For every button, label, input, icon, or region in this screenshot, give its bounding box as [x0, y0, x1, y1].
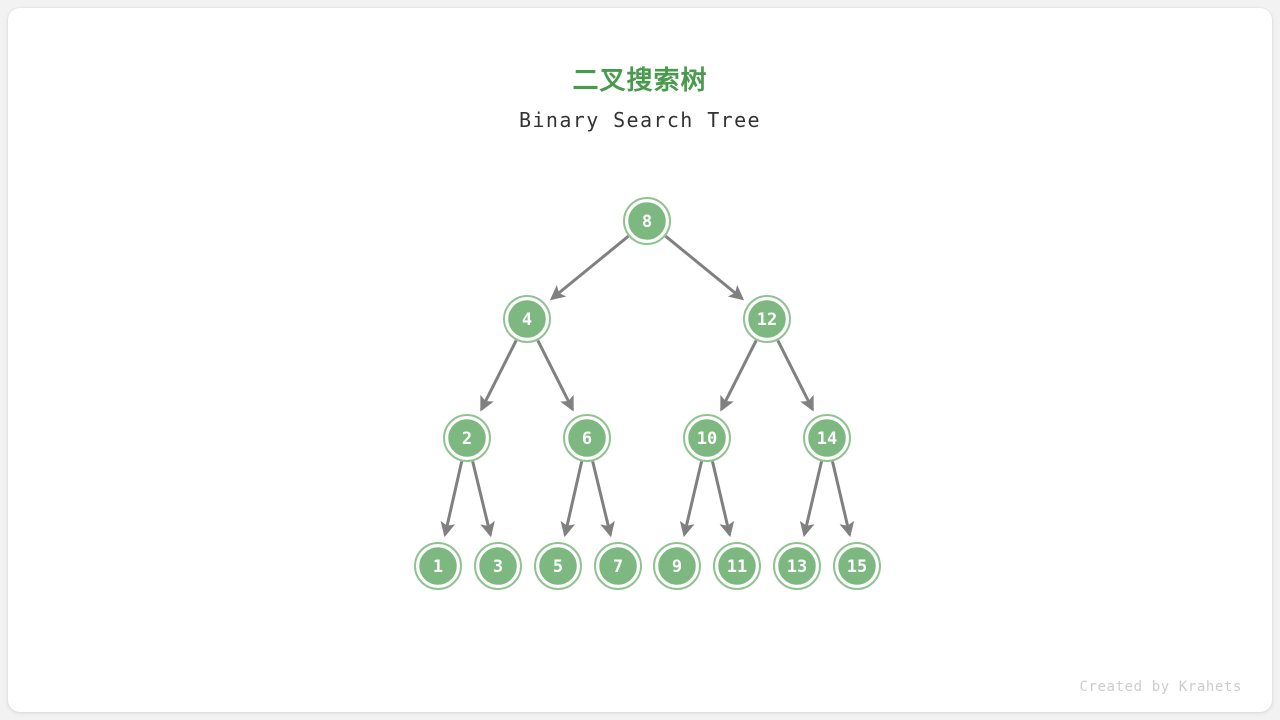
tree-edge-10-to-9 [684, 461, 701, 534]
tree-edge-14-to-13 [804, 461, 821, 534]
node-value-label: 2 [462, 429, 472, 449]
node-value-label: 14 [817, 429, 837, 449]
node-value-label: 11 [727, 557, 747, 577]
tree-node-3[interactable]: 3 [475, 543, 521, 589]
tree-edge-14-to-15 [832, 461, 849, 534]
tree-edge-10-to-11 [712, 461, 729, 534]
tree-edge-6-to-7 [593, 461, 611, 535]
node-value-label: 1 [433, 557, 443, 577]
tree-edge-8-to-4 [552, 236, 629, 299]
tree-node-6[interactable]: 6 [564, 415, 610, 461]
tree-edge-12-to-10 [721, 340, 756, 409]
binary-search-tree-diagram: 841226101413579111315 [8, 8, 1272, 712]
node-value-label: 12 [757, 310, 777, 330]
node-value-label: 6 [582, 429, 592, 449]
node-value-label: 8 [642, 212, 652, 232]
node-value-label: 7 [613, 557, 623, 577]
node-value-label: 5 [553, 557, 563, 577]
tree-nodes: 841226101413579111315 [415, 198, 880, 589]
node-value-label: 9 [672, 557, 682, 577]
tree-edges [445, 236, 850, 535]
credit-text: Created by Krahets [1079, 679, 1242, 695]
tree-node-7[interactable]: 7 [595, 543, 641, 589]
tree-node-14[interactable]: 14 [804, 415, 850, 461]
tree-edge-8-to-12 [666, 236, 743, 299]
tree-node-12[interactable]: 12 [744, 296, 790, 342]
node-value-label: 3 [493, 557, 503, 577]
node-value-label: 10 [697, 429, 717, 449]
tree-node-1[interactable]: 1 [415, 543, 461, 589]
tree-edge-6-to-5 [565, 461, 582, 534]
tree-edge-2-to-1 [445, 461, 462, 534]
tree-node-4[interactable]: 4 [504, 296, 550, 342]
node-value-label: 4 [522, 310, 532, 330]
tree-edge-2-to-3 [473, 461, 491, 535]
tree-node-10[interactable]: 10 [684, 415, 730, 461]
tree-node-9[interactable]: 9 [654, 543, 700, 589]
tree-node-15[interactable]: 15 [834, 543, 880, 589]
diagram-card: 二叉搜索树 Binary Search Tree 841226101413579… [8, 8, 1272, 712]
tree-node-11[interactable]: 11 [714, 543, 760, 589]
tree-edge-4-to-2 [481, 340, 516, 409]
tree-node-13[interactable]: 13 [774, 543, 820, 589]
node-value-label: 15 [847, 557, 867, 577]
tree-node-8[interactable]: 8 [624, 198, 670, 244]
tree-node-5[interactable]: 5 [535, 543, 581, 589]
tree-edge-12-to-14 [778, 340, 813, 409]
node-value-label: 13 [787, 557, 807, 577]
tree-edge-4-to-6 [538, 340, 573, 409]
tree-node-2[interactable]: 2 [444, 415, 490, 461]
page-background: 二叉搜索树 Binary Search Tree 841226101413579… [0, 0, 1280, 720]
